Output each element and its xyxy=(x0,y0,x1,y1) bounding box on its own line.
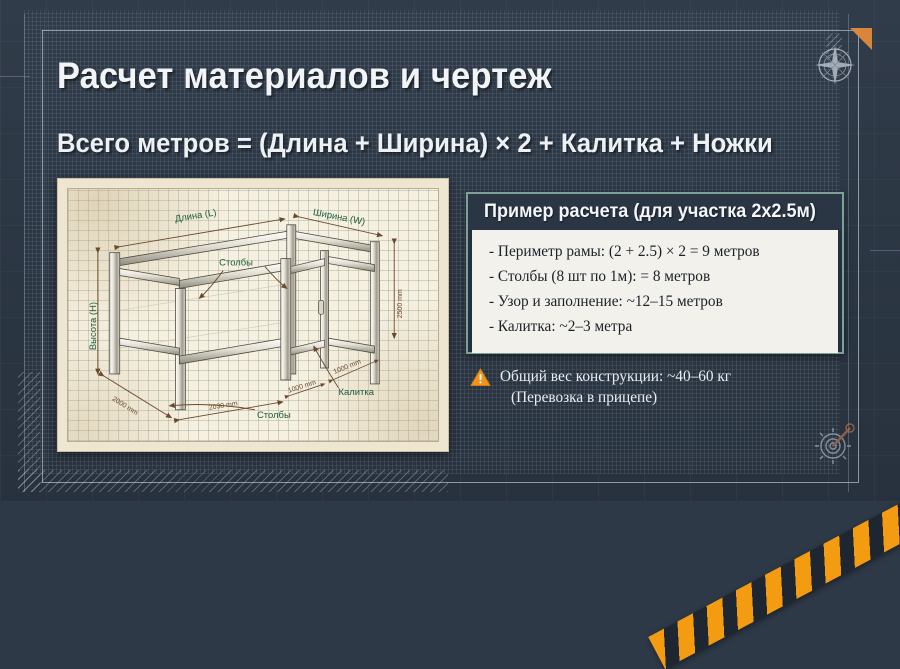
frame-tick-right xyxy=(870,250,900,251)
dim-height: 2500 mm xyxy=(397,289,404,318)
label-width: Ширина (W) xyxy=(312,207,366,228)
list-item: - Калитка: ~2–3 метра xyxy=(472,314,838,339)
calculation-example-panel: Пример расчета (для участка 2x2.5м) - Пе… xyxy=(466,192,844,354)
list-item: - Узор и заполнение: ~12–15 метров xyxy=(472,289,838,314)
hazard-tape xyxy=(648,496,900,669)
frame-border-top xyxy=(42,30,858,31)
frame-tick-left xyxy=(0,76,30,77)
page-title: Расчет материалов и чертеж xyxy=(57,55,782,97)
dim-left-base: 2000 mm xyxy=(111,396,139,417)
frame-structure-drawing: Длина (L) Ширина (W) Высота (H) 2500 mm … xyxy=(68,189,438,442)
corner-hatch-bottom xyxy=(18,470,448,492)
list-item: - Столбы (8 шт по 1м): = 8 метров xyxy=(472,264,838,289)
formula-text: Всего метров = (Длина + Ширина) × 2 + Ка… xyxy=(57,128,817,159)
label-gate: Калитка xyxy=(339,387,375,398)
label-posts-bottom: Столбы xyxy=(257,410,291,421)
label-length: Длина (L) xyxy=(174,207,217,224)
label-height: Высота (H) xyxy=(88,302,99,350)
compass-rose-icon xyxy=(812,42,858,88)
warning-line-2: (Перевозка в прицепе) xyxy=(500,387,731,408)
blueprint-drawing-card: Длина (L) Ширина (W) Высота (H) 2500 mm … xyxy=(57,178,449,452)
warning-line-1: Общий вес конструкции: ~40–60 кг xyxy=(500,366,731,387)
weight-warning: Общий вес конструкции: ~40–60 кг (Перево… xyxy=(470,366,731,408)
warning-triangle-icon xyxy=(470,368,491,387)
warning-text: Общий вес конструкции: ~40–60 кг (Перево… xyxy=(500,366,731,408)
gear-compass-icon xyxy=(810,415,864,469)
panel-header-label: Пример расчета (для участка 2x2.5м) xyxy=(484,201,816,223)
dim-gate-left: 1000 mm xyxy=(287,379,317,395)
graph-paper: Длина (L) Ширина (W) Высота (H) 2500 mm … xyxy=(67,188,439,442)
list-item: - Периметр рамы: (2 + 2.5) × 2 = 9 метро… xyxy=(472,239,838,264)
corner-hatch-left xyxy=(18,372,40,492)
frame-border-left xyxy=(42,30,43,482)
panel-header: Пример расчета (для участка 2x2.5м) xyxy=(468,194,842,230)
label-posts-top: Столбы xyxy=(219,258,253,269)
panel-body: - Периметр рамы: (2 + 2.5) × 2 = 9 метро… xyxy=(472,230,838,353)
